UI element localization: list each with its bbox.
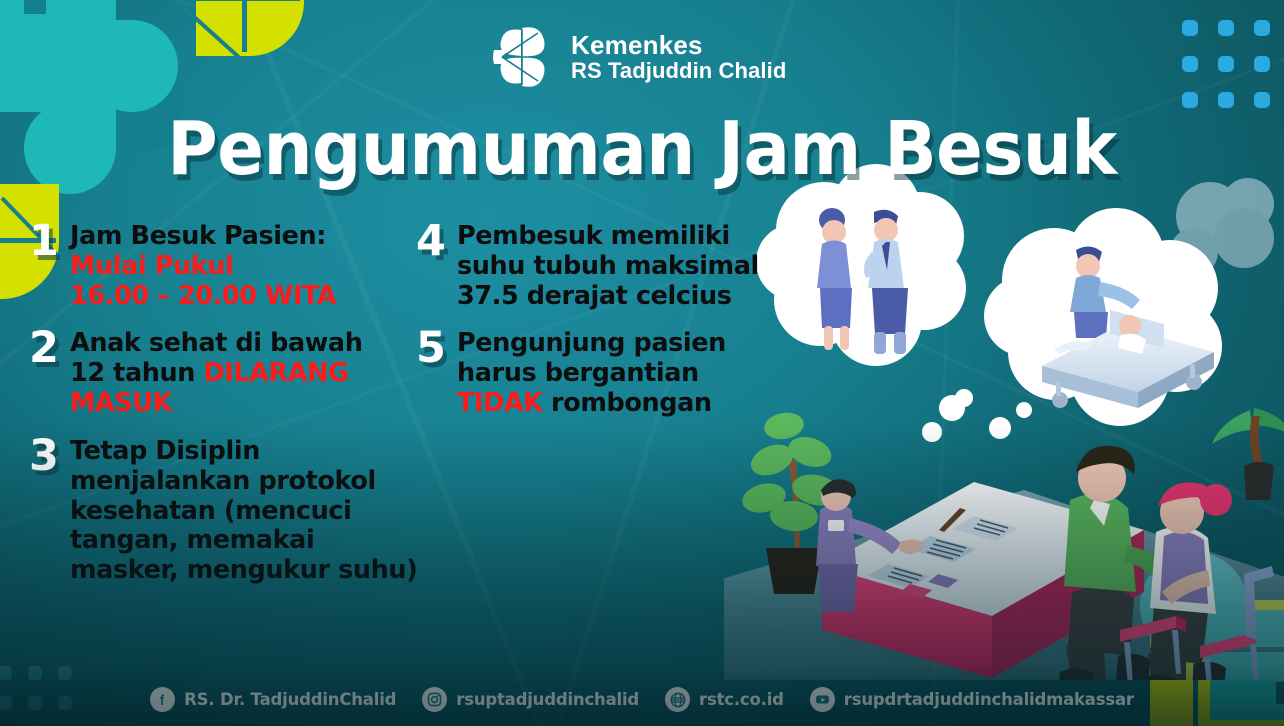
rule-text-line: Jam Besuk Pasien: [70,222,418,252]
rule-item: 3Tetap Disiplinmenjalankan protokolkeseh… [18,437,418,586]
rule-text-emphasis: Mulai Pukul [70,251,233,281]
rule-number: 4 [405,222,457,262]
decor-cross-stroke-b [196,0,300,1]
rule-text-line: Anak sehat di bawah [70,329,418,359]
rule-item: 5Pengunjung pasienharus bergantianTIDAK … [405,329,805,418]
rule-number: 5 [405,329,457,369]
rule-text-line: Pembesuk memiliki [457,222,805,252]
rule-text-segment: Jam Besuk Pasien: [70,221,326,251]
kemenkes-clover-logo-icon [492,26,558,88]
rule-text-line: 16.00 – 20.00 WITA [70,282,418,312]
rule-text-line: tangan, memakai [70,526,418,556]
social-handle-label: RS. Dr. TadjuddinChalid [184,690,396,709]
rule-text-emphasis: 16.00 – 20.00 WITA [70,281,336,311]
rule-text-line: Tetap Disiplin [70,437,418,467]
decor-dotgrid-top-right [1182,20,1266,108]
rule-text-line: 37.5 derajat celcius [457,282,805,312]
page-title: Pengumuman Jam Besuk [45,106,1239,192]
rule-item: 1Jam Besuk Pasien:Mulai Pukul16.00 – 20.… [18,222,418,311]
rule-text-segment: Pengunjung pasien [457,328,726,358]
rule-text-line: Pengunjung pasien [457,329,805,359]
rule-text-line: Mulai Pukul [70,252,418,282]
rule-text-line: 12 tahun DILARANG [70,359,418,389]
decor-petal-teal-1 [86,20,178,112]
decor-cross-stroke-a [242,0,247,52]
rule-number: 3 [18,437,70,477]
youtube-icon[interactable] [810,687,835,712]
rule-text-line: kesehatan (mencuci [70,497,418,527]
social-link[interactable]: rsupdrtadjuddinchalidmakassar [810,687,1134,712]
social-link[interactable]: rstc.co.id [665,687,784,712]
rule-number: 2 [18,329,70,369]
brand-line-2: RS Tadjuddin Chalid [571,59,786,83]
social-link[interactable]: RS. Dr. TadjuddinChalid [150,687,396,712]
rule-text-segment: rombongan [543,388,712,418]
globe-icon[interactable] [665,687,690,712]
rules-column-left: 1Jam Besuk Pasien:Mulai Pukul16.00 – 20.… [18,222,418,604]
rule-text: Pembesuk memilikisuhu tubuh maksimal37.5… [457,222,805,311]
social-handle-label: rstc.co.id [699,690,784,709]
rule-text: Pengunjung pasienharus bergantianTIDAK r… [457,329,805,418]
rule-item: 2Anak sehat di bawah12 tahun DILARANGMAS… [18,329,418,418]
rule-text: Tetap Disiplinmenjalankan protokolkeseha… [70,437,418,586]
rule-text-line: masker, mengukur suhu) [70,556,418,586]
rule-text-line: menjalankan protokol [70,467,418,497]
rule-item: 4Pembesuk memilikisuhu tubuh maksimal37.… [405,222,805,311]
social-handle-label: rsuptadjuddinchalid [456,690,639,709]
rule-text-segment: suhu tubuh maksimal [457,251,759,281]
rule-text-line: TIDAK rombongan [457,389,805,419]
rule-text: Anak sehat di bawah12 tahun DILARANGMASU… [70,329,418,418]
poster-canvas: Kemenkes RS Tadjuddin Chalid Pengumuman … [0,0,1284,726]
rule-text-segment: menjalankan protokol [70,466,376,496]
social-handle-label: rsupdrtadjuddinchalidmakassar [844,690,1134,709]
rule-text-segment: 12 tahun [70,358,204,388]
social-links: RS. Dr. TadjuddinChalidrsuptadjuddinchal… [0,687,1284,712]
thought-bubble-trail [922,389,1032,442]
rule-text-emphasis: TIDAK [457,388,543,418]
rule-text-segment: Tetap Disiplin [70,436,260,466]
facebook-icon[interactable] [150,687,175,712]
brand-logo-block: Kemenkes RS Tadjuddin Chalid [492,26,786,88]
hospital-scene-illustration [724,160,1284,680]
rule-text-segment: Anak sehat di bawah [70,328,363,358]
rule-text-line: MASUK [70,389,418,419]
rule-text-line: suhu tubuh maksimal [457,252,805,282]
rule-text-segment: harus bergantian [457,358,699,388]
rule-number: 1 [18,222,70,262]
rule-text: Jam Besuk Pasien:Mulai Pukul16.00 – 20.0… [70,222,418,311]
footer: RS. Dr. TadjuddinChalidrsuptadjuddinchal… [0,664,1284,726]
illustration-svg [724,160,1284,680]
brand-line-1: Kemenkes [571,31,786,59]
rule-text-segment: 37.5 derajat celcius [457,281,731,311]
rules-column-right: 4Pembesuk memilikisuhu tubuh maksimal37.… [405,222,805,437]
rule-text-segment: masker, mengukur suhu) [70,555,417,585]
rule-text-emphasis: DILARANG [204,358,349,388]
rule-text-segment: tangan, memakai [70,525,314,555]
social-link[interactable]: rsuptadjuddinchalid [422,687,639,712]
decor-petal-lime-1 [196,0,304,56]
rule-text-emphasis: MASUK [70,388,172,418]
rule-text-segment: Pembesuk memiliki [457,221,730,251]
brand-text: Kemenkes RS Tadjuddin Chalid [571,31,786,83]
rule-text-segment: kesehatan (mencuci [70,496,351,526]
decor-square-dark-small [24,0,46,14]
rule-text-line: harus bergantian [457,359,805,389]
instagram-icon[interactable] [422,687,447,712]
